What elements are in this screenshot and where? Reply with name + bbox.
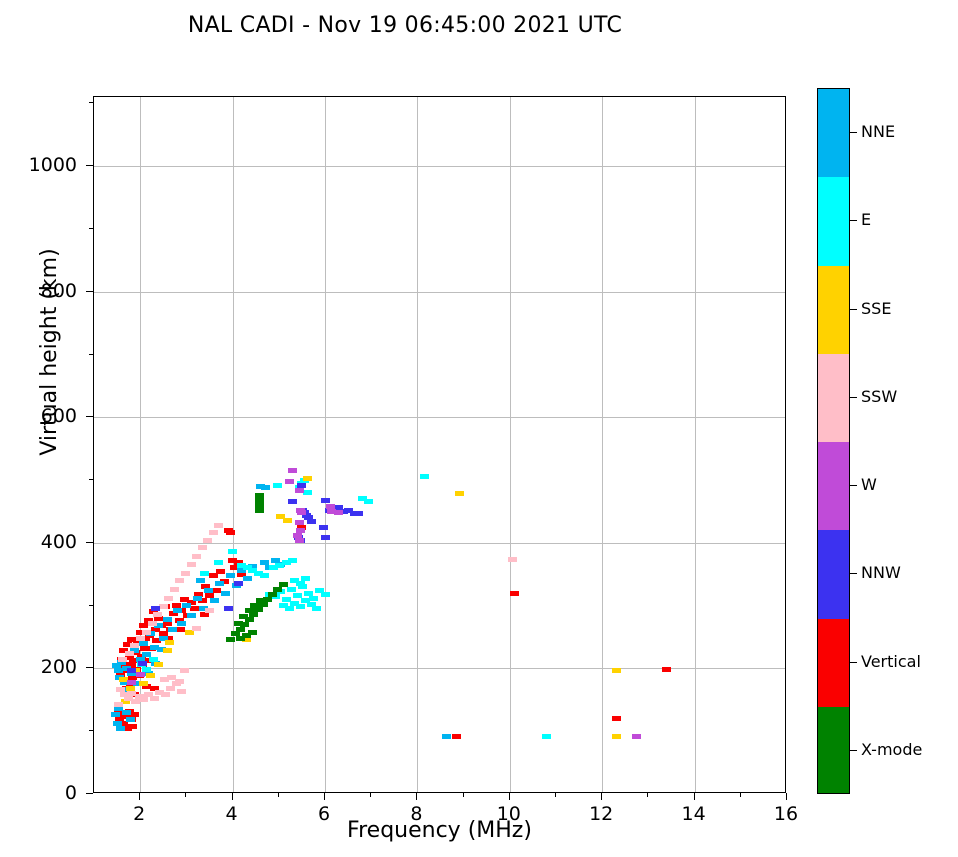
tick-label-x-10: 10 — [479, 803, 539, 825]
data-point-e — [200, 571, 209, 576]
data-point-x-mode — [248, 630, 257, 635]
tick-x-8 — [416, 793, 417, 800]
data-point-nne — [187, 613, 196, 618]
data-point-x-mode — [255, 493, 264, 498]
data-point-nne — [111, 712, 120, 717]
data-point-nnw — [354, 511, 363, 516]
data-point-ssw — [214, 523, 223, 528]
data-point-ssw — [153, 612, 162, 617]
data-point-sse — [154, 662, 163, 667]
colorbar-segment-vertical — [818, 619, 849, 707]
data-point-nnw — [234, 581, 243, 586]
data-point-e — [287, 587, 296, 592]
data-point-ssw — [125, 651, 134, 656]
data-point-ssw — [203, 538, 212, 543]
tick-y-1000 — [86, 165, 93, 166]
minor-tick-x-13 — [647, 793, 648, 797]
page-title: NAL CADI - Nov 19 06:45:00 2021 UTC — [0, 13, 810, 38]
data-point-nne — [210, 598, 219, 603]
colorbar-tick-nnw — [850, 573, 857, 574]
data-point-ssw — [192, 626, 201, 631]
data-point-nne — [226, 573, 235, 578]
y-axis-label: Virtual height (km) — [37, 202, 62, 502]
data-point-e — [321, 592, 330, 597]
data-point-nne — [204, 588, 213, 593]
data-point-x-mode — [239, 614, 248, 619]
data-point-nne — [243, 576, 252, 581]
data-point-ssw — [142, 630, 151, 635]
colorbar-segment-ssw — [818, 354, 849, 442]
tick-y-400 — [86, 542, 93, 543]
data-point-nne — [221, 591, 230, 596]
data-point-e — [285, 606, 294, 611]
colorbar-tick-ssw — [850, 397, 857, 398]
data-point-nne — [168, 627, 177, 632]
data-point-sse — [612, 734, 621, 739]
data-point-w — [295, 520, 304, 525]
data-point-ssw — [175, 679, 184, 684]
tick-label-y-0: 0 — [7, 782, 77, 804]
data-point-ssw — [136, 636, 145, 641]
data-point-nne — [442, 734, 451, 739]
tick-x-6 — [324, 793, 325, 800]
data-point-x-mode — [226, 637, 235, 642]
data-point-sse — [612, 668, 621, 673]
data-point-sse — [455, 491, 464, 496]
data-point-ssw — [150, 696, 159, 701]
data-point-w — [288, 468, 297, 473]
data-point-nne — [163, 617, 172, 622]
tick-y-600 — [86, 416, 93, 417]
data-point-ssw — [205, 608, 214, 613]
data-point-ssw — [159, 604, 168, 609]
data-point-nnw — [321, 535, 330, 540]
data-point-vertical — [209, 573, 218, 578]
data-point-vertical — [128, 724, 137, 729]
data-point-ssw — [164, 596, 173, 601]
tick-label-x-4: 4 — [202, 803, 262, 825]
tick-label-y-1000: 1000 — [7, 154, 77, 176]
data-point-vertical — [452, 734, 461, 739]
data-point-nnw — [321, 498, 330, 503]
data-point-x-mode — [234, 621, 243, 626]
data-point-w — [136, 672, 145, 677]
colorbar-label-nnw: NNW — [861, 563, 901, 582]
data-point-x-mode — [245, 608, 254, 613]
tick-label-y-600: 600 — [7, 405, 77, 427]
data-point-x-mode — [255, 498, 264, 503]
data-point-w — [127, 680, 136, 685]
colorbar-tick-vertical — [850, 662, 857, 663]
data-point-sse — [165, 640, 174, 645]
data-point-sse — [163, 648, 172, 653]
colorbar-segment-sse — [818, 266, 849, 354]
data-point-ssw — [175, 578, 184, 583]
scatter-points — [94, 97, 785, 792]
data-point-nne — [122, 710, 131, 715]
tick-x-12 — [601, 793, 602, 800]
data-point-vertical — [662, 667, 671, 672]
data-point-e — [312, 606, 321, 611]
data-point-w — [632, 734, 641, 739]
tick-label-x-8: 8 — [386, 803, 446, 825]
colorbar-label-e: E — [861, 210, 871, 229]
minor-tick-x-3 — [185, 793, 186, 797]
data-point-e — [420, 474, 429, 479]
minor-tick-x-11 — [555, 793, 556, 797]
colorbar-tick-e — [850, 220, 857, 221]
data-point-e — [273, 483, 282, 488]
data-point-e — [260, 573, 269, 578]
data-point-vertical — [216, 569, 225, 574]
data-point-ssw — [209, 530, 218, 535]
data-point-nne — [139, 641, 148, 646]
colorbar-label-ssw: SSW — [861, 387, 897, 406]
data-point-nne — [261, 485, 270, 490]
data-point-ssw — [148, 621, 157, 626]
data-point-sse — [283, 518, 292, 523]
data-point-nnw — [307, 519, 316, 524]
tick-label-y-200: 200 — [7, 656, 77, 678]
data-point-x-mode — [236, 627, 245, 632]
data-point-sse — [303, 476, 312, 481]
data-point-e — [237, 563, 246, 568]
colorbar-label-w: W — [861, 475, 877, 494]
data-point-nne — [215, 581, 224, 586]
minor-tick-y-300 — [89, 605, 93, 606]
colorbar-label-x-mode: X-mode — [861, 740, 922, 759]
data-point-vertical — [612, 716, 621, 721]
data-point-ssw — [187, 562, 196, 567]
data-point-e — [301, 576, 310, 581]
data-point-x-mode — [273, 587, 282, 592]
data-point-e — [309, 596, 318, 601]
colorbar-tick-w — [850, 485, 857, 486]
data-point-x-mode — [255, 508, 264, 513]
minor-tick-x-15 — [740, 793, 741, 797]
data-point-vertical — [510, 591, 519, 596]
data-point-nne — [182, 603, 191, 608]
data-point-e — [303, 490, 312, 495]
data-point-e — [269, 565, 278, 570]
tick-label-y-400: 400 — [7, 531, 77, 553]
data-point-nne — [126, 717, 135, 722]
tick-label-y-800: 800 — [7, 280, 77, 302]
colorbar-tick-x-mode — [850, 750, 857, 751]
data-point-e — [296, 581, 305, 586]
colorbar-segment-w — [818, 442, 849, 530]
data-point-w — [334, 510, 343, 515]
data-point-sse — [146, 673, 155, 678]
data-point-ssw — [177, 689, 186, 694]
colorbar — [817, 88, 850, 794]
colorbar-segment-nnw — [818, 530, 849, 618]
data-point-x-mode — [255, 503, 264, 508]
data-point-x-mode — [250, 603, 259, 608]
colorbar-label-vertical: Vertical — [861, 652, 921, 671]
data-point-ssw — [139, 697, 148, 702]
data-point-w — [295, 488, 304, 493]
data-point-nne — [193, 596, 202, 601]
data-point-e — [228, 549, 237, 554]
data-point-e — [364, 499, 373, 504]
tick-x-4 — [232, 793, 233, 800]
minor-tick-y-700 — [89, 354, 93, 355]
data-point-ssw — [508, 557, 517, 562]
data-point-nnw — [138, 661, 147, 666]
data-point-x-mode — [279, 582, 288, 587]
data-point-x-mode — [256, 598, 265, 603]
data-point-ssw — [192, 554, 201, 559]
minor-tick-y-900 — [89, 228, 93, 229]
data-point-nnw — [319, 525, 328, 530]
data-point-w — [297, 510, 306, 515]
data-point-w — [285, 479, 294, 484]
data-point-nnw — [151, 606, 160, 611]
data-point-x-mode — [268, 592, 277, 597]
data-point-nnw — [224, 606, 233, 611]
tick-label-x-16: 16 — [756, 803, 816, 825]
data-point-ssw — [198, 545, 207, 550]
data-point-ssw — [180, 668, 189, 673]
tick-label-x-12: 12 — [571, 803, 631, 825]
colorbar-label-nne: NNE — [861, 122, 895, 141]
data-point-ssw — [161, 692, 170, 697]
tick-x-14 — [694, 793, 695, 800]
minor-tick-x-7 — [370, 793, 371, 797]
data-point-nne — [116, 726, 125, 731]
data-point-nne — [196, 578, 205, 583]
data-point-w — [295, 538, 304, 543]
tick-x-16 — [786, 793, 787, 800]
data-point-nne — [177, 621, 186, 626]
colorbar-tick-sse — [850, 309, 857, 310]
tick-x-2 — [139, 793, 140, 800]
minor-tick-x-5 — [278, 793, 279, 797]
minor-tick-y-500 — [89, 479, 93, 480]
data-point-ssw — [118, 657, 127, 662]
data-point-vertical — [226, 530, 235, 535]
colorbar-tick-nne — [850, 132, 857, 133]
tick-label-x-2: 2 — [109, 803, 169, 825]
data-point-nne — [173, 608, 182, 613]
minor-tick-y-100 — [89, 730, 93, 731]
plot-area — [93, 96, 786, 793]
tick-y-0 — [86, 793, 93, 794]
data-point-sse — [139, 681, 148, 686]
tick-label-x-14: 14 — [664, 803, 724, 825]
colorbar-segment-nne — [818, 89, 849, 177]
colorbar-label-sse: SSE — [861, 299, 891, 318]
data-point-e — [214, 560, 223, 565]
data-point-e — [542, 734, 551, 739]
data-point-ssw — [114, 702, 123, 707]
data-point-ssw — [170, 587, 179, 592]
colorbar-segment-x-mode — [818, 707, 849, 793]
data-point-ssw — [181, 571, 190, 576]
tick-label-x-6: 6 — [294, 803, 354, 825]
data-point-e — [296, 604, 305, 609]
data-point-nnw — [288, 499, 297, 504]
data-point-ssw — [166, 686, 175, 691]
minor-tick-x-9 — [463, 793, 464, 797]
tick-y-800 — [86, 291, 93, 292]
tick-y-200 — [86, 667, 93, 668]
minor-tick-y-1100 — [89, 102, 93, 103]
tick-x-10 — [509, 793, 510, 800]
colorbar-segment-e — [818, 177, 849, 265]
data-point-ssw — [130, 643, 139, 648]
